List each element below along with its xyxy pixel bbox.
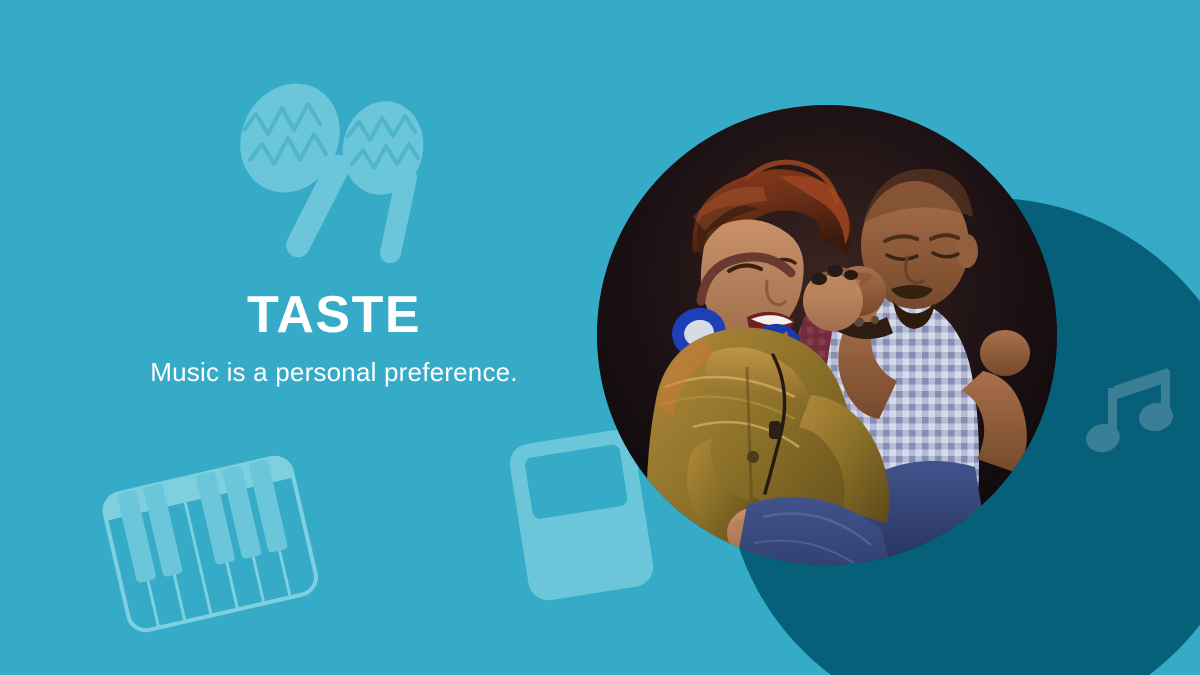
music-note-icon: [1086, 362, 1178, 460]
maracas-icon: [228, 78, 438, 263]
piano-keys-icon: [90, 448, 330, 638]
page-title: TASTE: [0, 288, 668, 343]
text-block: TASTE Music is a personal preference.: [0, 288, 668, 388]
slide-canvas: TASTE Music is a personal preference.: [0, 0, 1200, 675]
page-subtitle: Music is a personal preference.: [0, 357, 668, 388]
